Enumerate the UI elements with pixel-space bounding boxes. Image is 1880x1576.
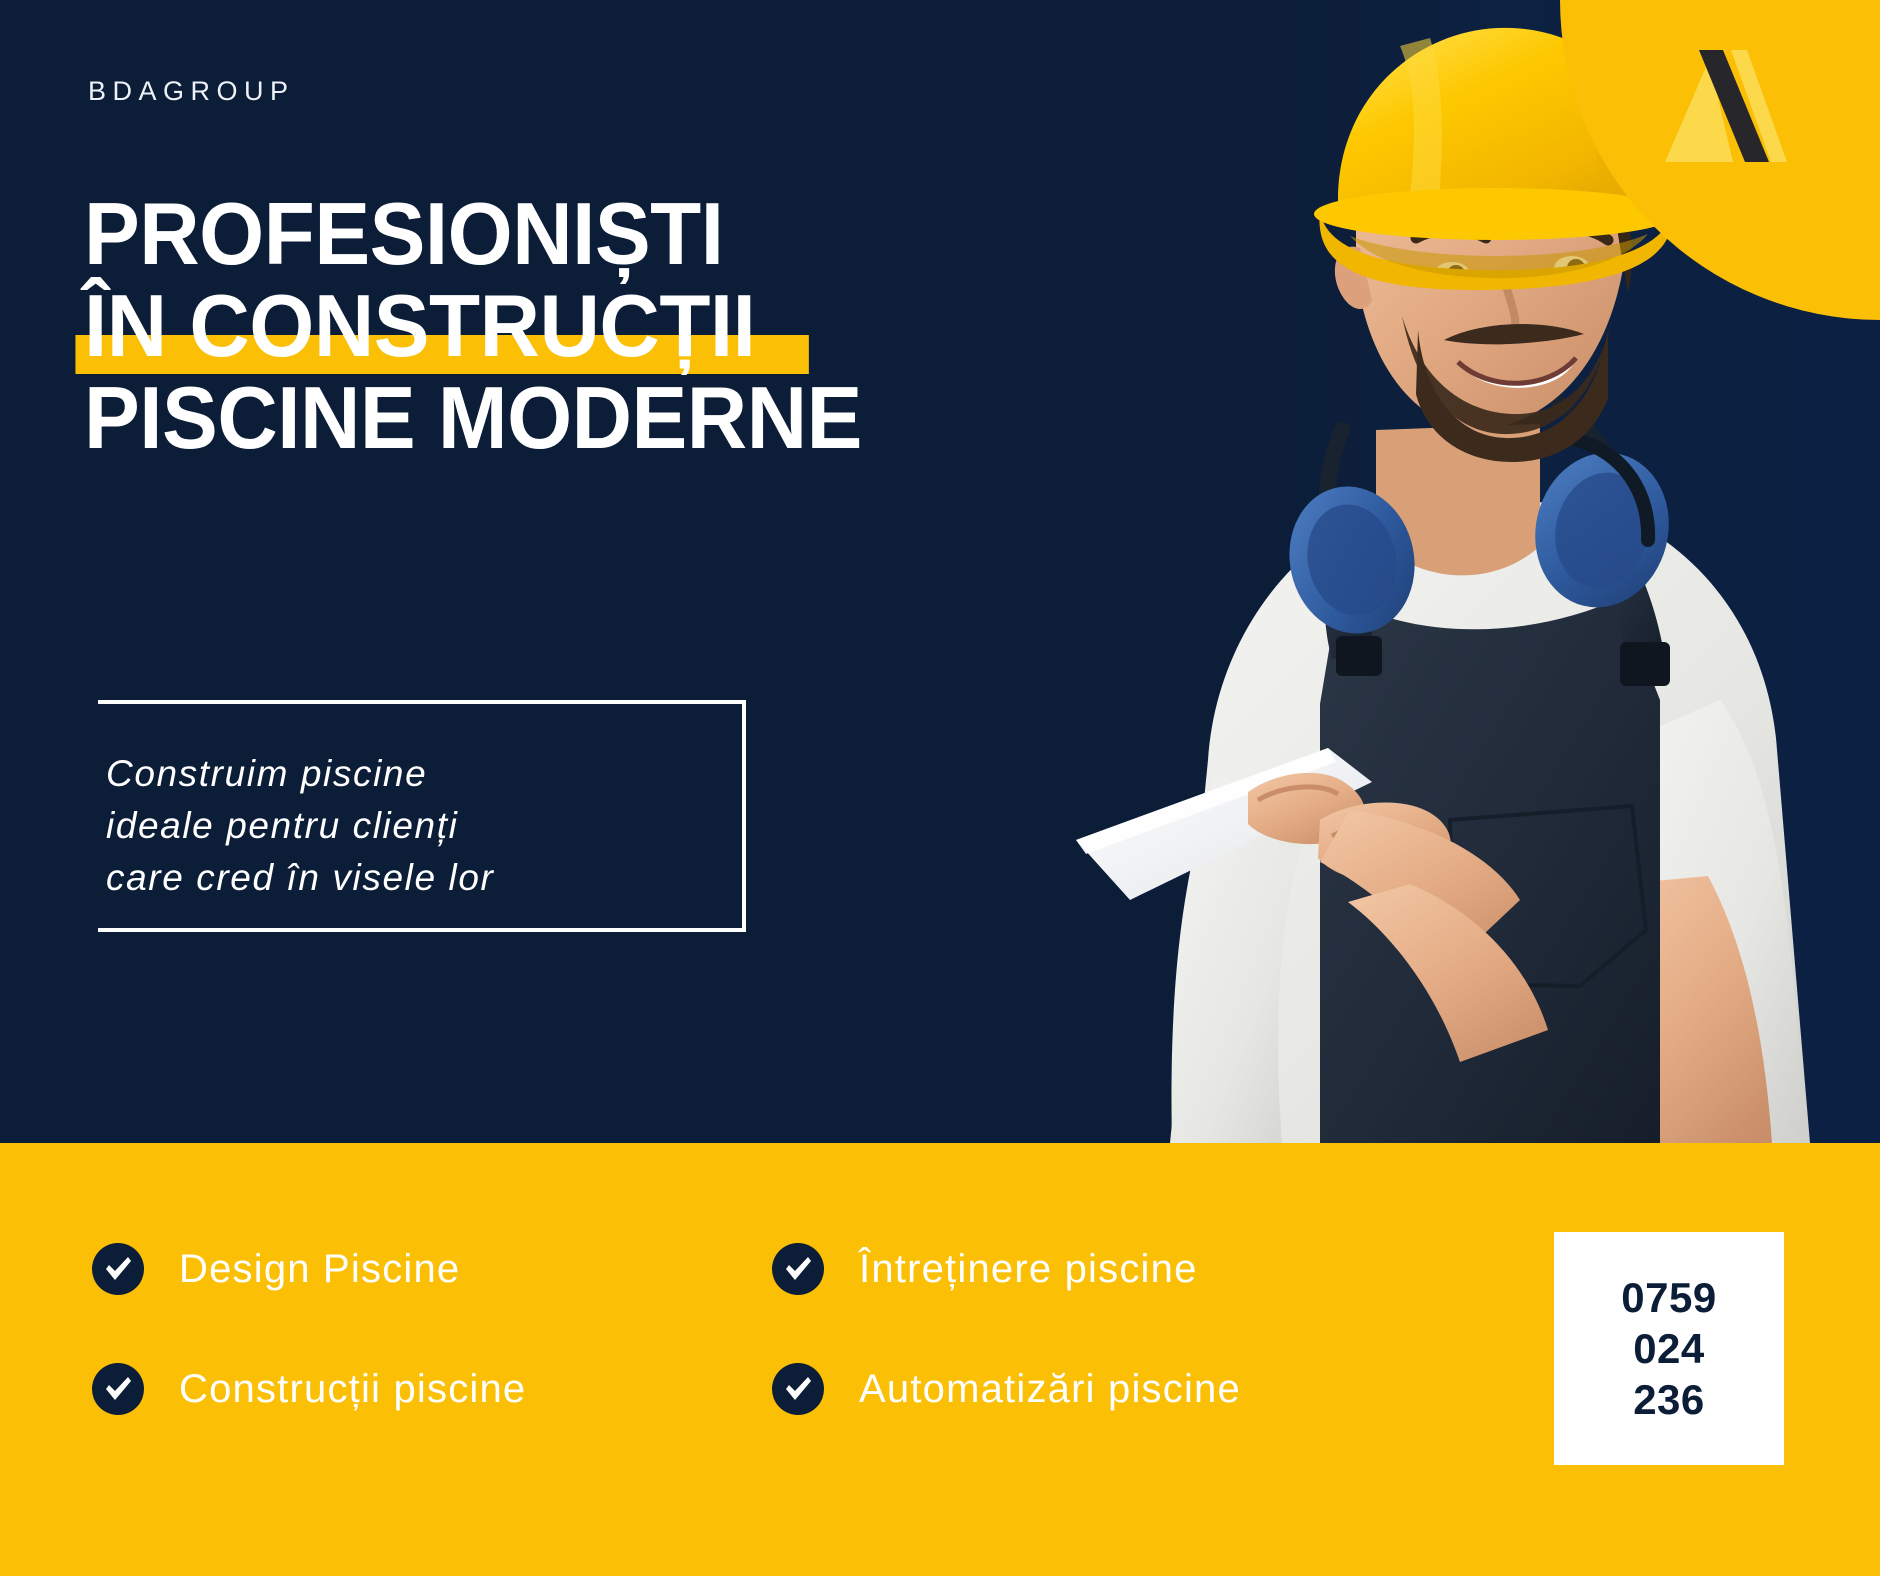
check-icon <box>92 1363 144 1415</box>
headline-line-3: PISCINE MODERNE <box>84 372 1034 464</box>
phone-line-3: 236 <box>1633 1374 1705 1425</box>
headline-line-2-text: ÎN CONSTRUCȚII <box>84 276 755 375</box>
service-label: Construcții piscine <box>179 1367 526 1412</box>
brand-wordmark: BDAGROUP <box>88 76 295 107</box>
service-item-intretinere-piscine[interactable]: Întreținere piscine <box>772 1243 1452 1295</box>
check-icon <box>772 1363 824 1415</box>
hero-section: BDAGROUP PROFESIONIȘTI ÎN CONSTRUCȚII PI… <box>0 0 1880 1143</box>
check-icon <box>92 1243 144 1295</box>
bda-a-mark-icon <box>1665 42 1790 172</box>
phone-number-card[interactable]: 0759 024 236 <box>1554 1232 1784 1465</box>
service-label: Automatizări piscine <box>859 1367 1241 1412</box>
tagline-text: Construim piscine ideale pentru clienți … <box>106 748 494 904</box>
footer-section: Design Piscine Întreținere piscine Const… <box>0 1143 1880 1576</box>
headline-line-1-text: PROFESIONIȘTI <box>84 184 723 283</box>
services-list: Design Piscine Întreținere piscine Const… <box>92 1243 1492 1415</box>
service-item-design-piscine[interactable]: Design Piscine <box>92 1243 772 1295</box>
phone-line-1: 0759 <box>1621 1272 1716 1323</box>
service-item-constructii-piscine[interactable]: Construcții piscine <box>92 1363 772 1415</box>
advertisement-poster: BDAGROUP PROFESIONIȘTI ÎN CONSTRUCȚII PI… <box>0 0 1880 1576</box>
headline-line-2: ÎN CONSTRUCȚII <box>84 280 1034 372</box>
headline-line-1: PROFESIONIȘTI <box>84 188 1034 280</box>
tagline-box: Construim piscine ideale pentru clienți … <box>98 700 746 932</box>
headline-line-3-text: PISCINE MODERNE <box>84 368 862 467</box>
service-item-automatizari-piscine[interactable]: Automatizări piscine <box>772 1363 1452 1415</box>
service-label: Design Piscine <box>179 1247 460 1292</box>
check-icon <box>772 1243 824 1295</box>
phone-line-2: 024 <box>1633 1323 1705 1374</box>
headline-block: PROFESIONIȘTI ÎN CONSTRUCȚII PISCINE MOD… <box>84 188 1084 464</box>
service-label: Întreținere piscine <box>859 1247 1198 1292</box>
